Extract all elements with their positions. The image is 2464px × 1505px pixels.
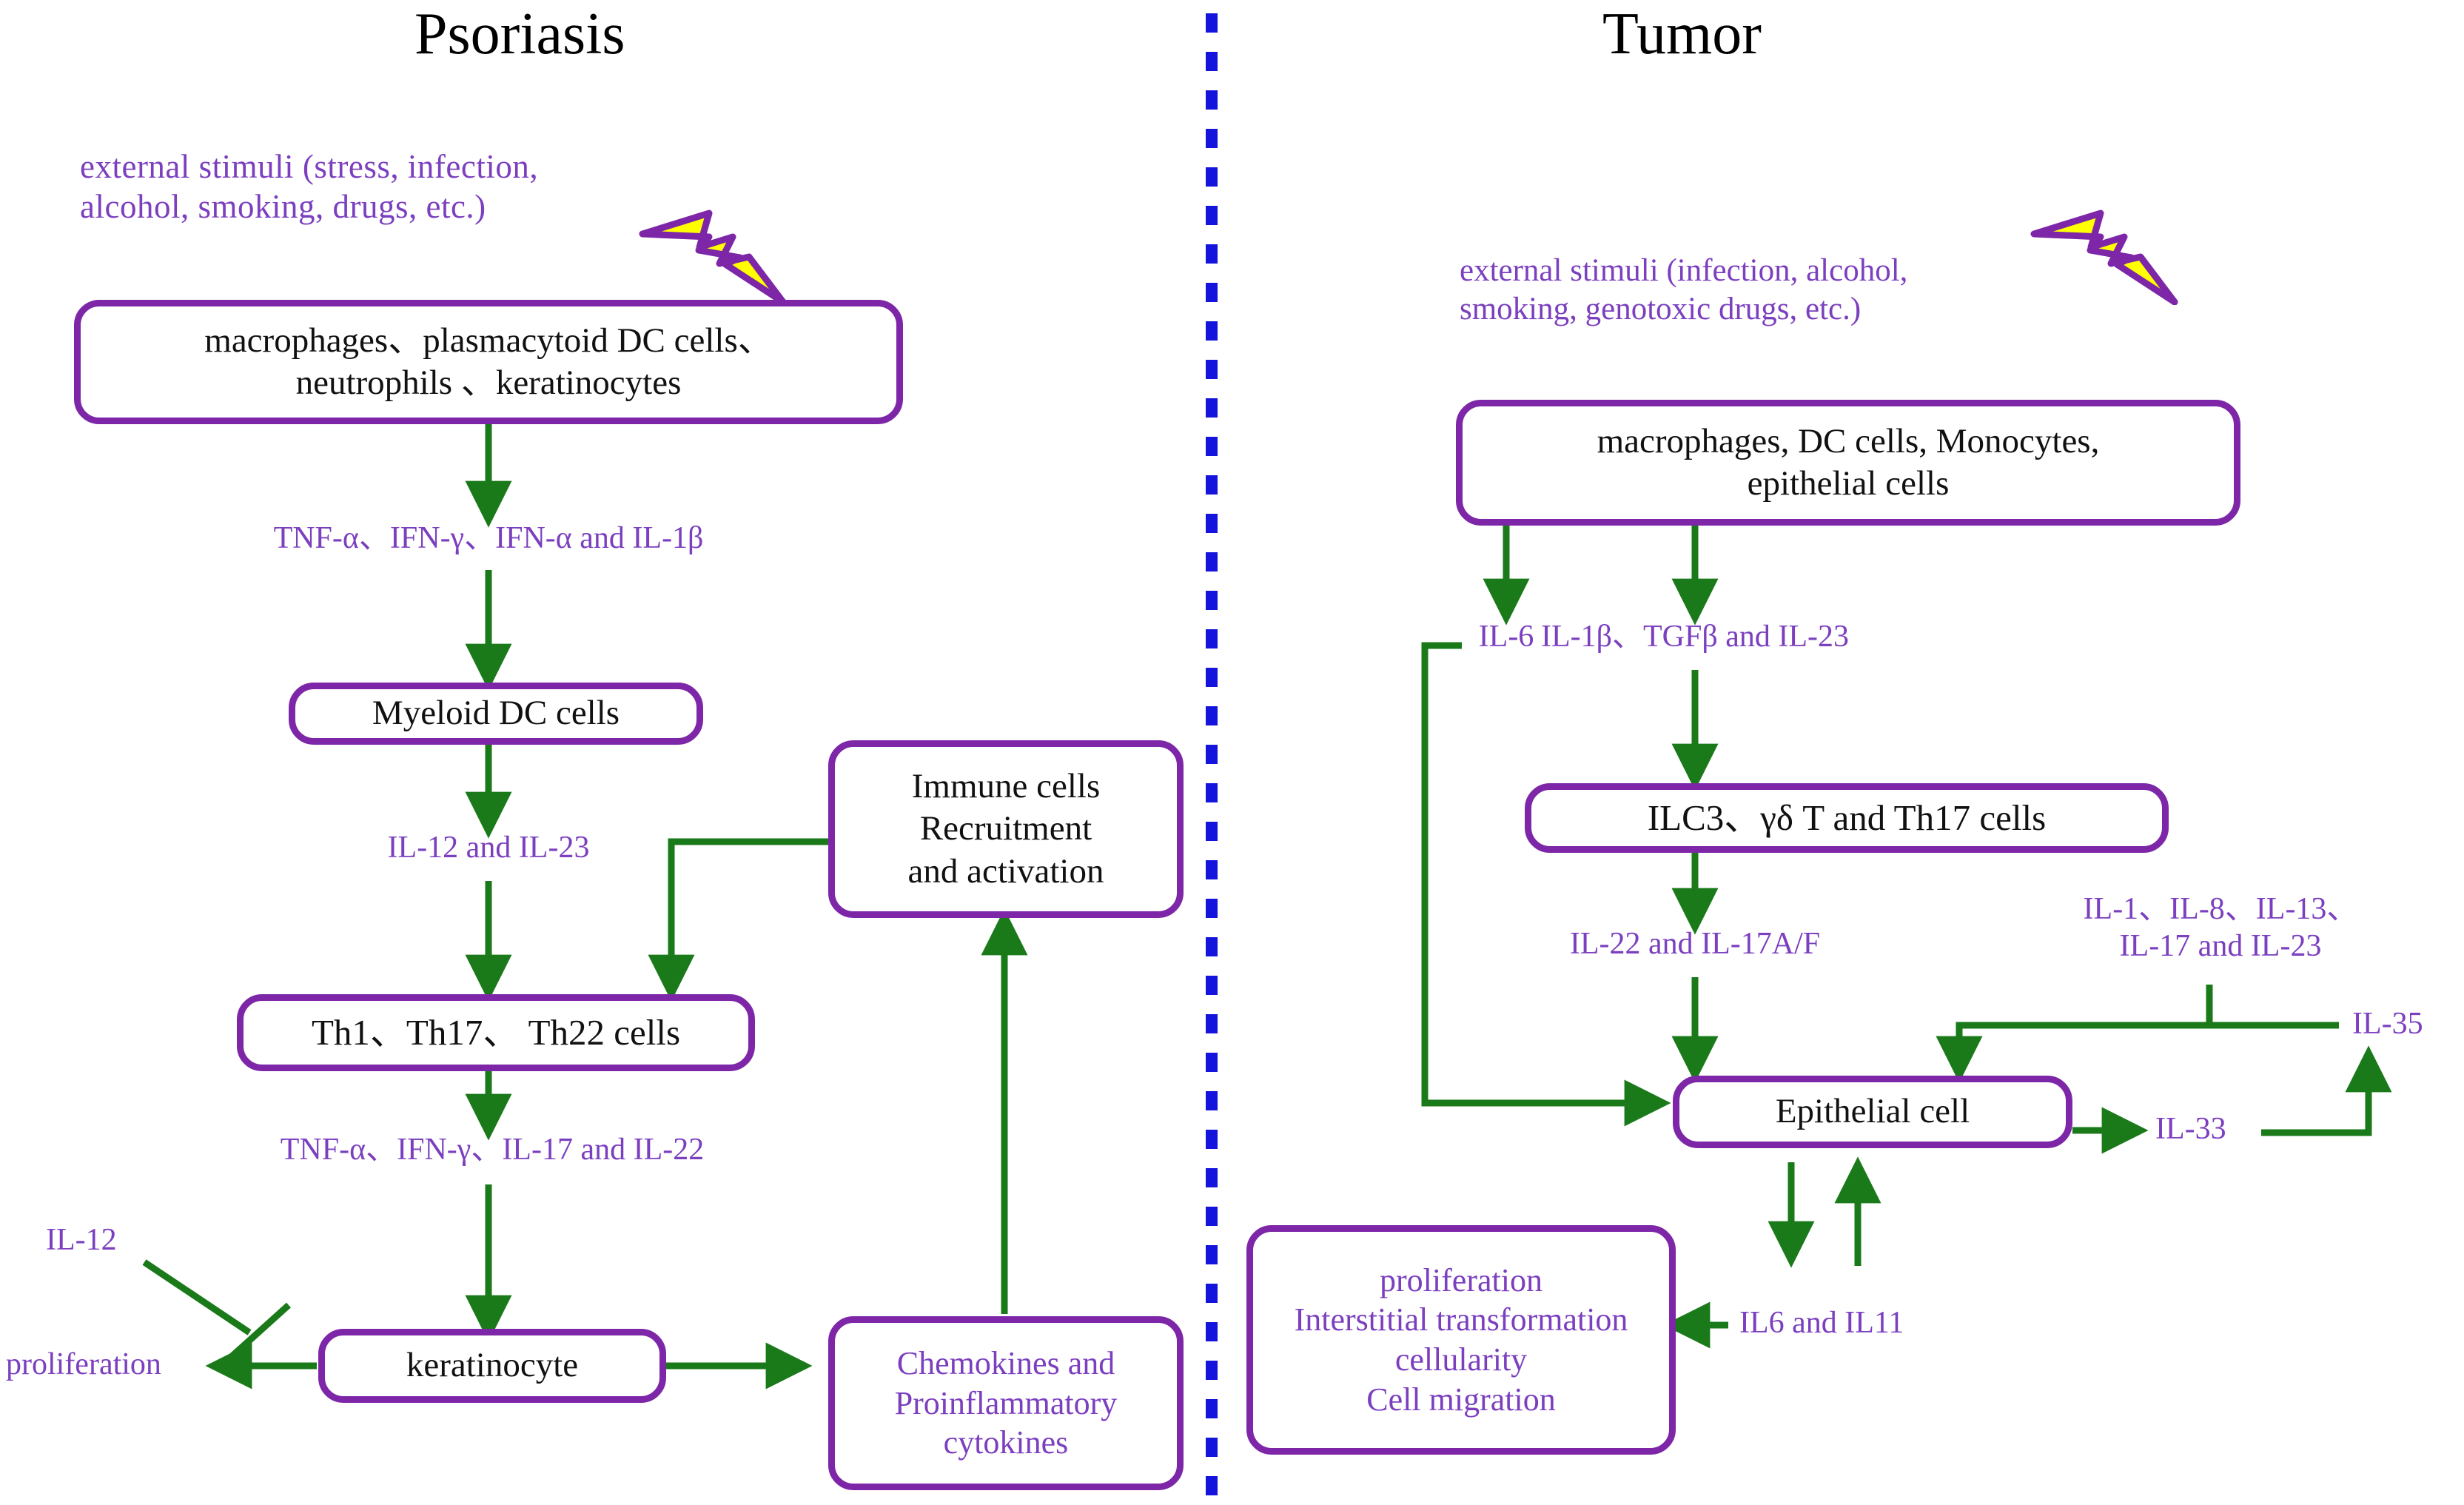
node-label: Chemokines and Proinflammatory cytokines (895, 1344, 1118, 1463)
node-label: ILC3、γδ T and Th17 cells (1648, 796, 2046, 840)
node-label: Epithelial cell (1776, 1090, 1970, 1133)
edge-label-il33: IL-33 (2155, 1110, 2226, 1147)
edge-label-il35: IL-35 (2352, 1005, 2423, 1042)
edge-label-cytokines-3: TNF-α、IFN-γ、IL-17 and IL-22 (192, 1131, 792, 1168)
panel-title-tumor: Tumor (1602, 4, 1762, 64)
node-label: proliferation Interstitial transformatio… (1295, 1261, 1628, 1420)
stimuli-label-tumor: external stimuli (infection, alcohol, sm… (1460, 252, 1907, 328)
edge-label-proliferation: proliferation (6, 1346, 161, 1383)
node-th-cells[interactable]: Th1、Th17、 Th22 cells (237, 994, 755, 1071)
node-myeloid-dc-cells[interactable]: Myeloid DC cells (289, 683, 703, 745)
node-immune-recruitment[interactable]: Immune cells Recruitment and activation (828, 740, 1184, 918)
edge-label-tumor-cytokines-1: IL-1β、TGFβ and IL-23 (1540, 618, 1850, 655)
arrow-il33-feedback-up (2261, 1055, 2369, 1133)
lightning-bolt-icon (2030, 201, 2192, 305)
lightning-bolt-icon (638, 201, 801, 305)
arrow-il6-feedback-to-epithelial (1425, 646, 1662, 1103)
node-label: Immune cells Recruitment and activation (908, 765, 1104, 893)
node-keratinocyte[interactable]: keratinocyte (318, 1329, 666, 1403)
edge-label-il6-il11: IL6 and IL11 (1739, 1304, 1904, 1341)
node-psoriasis-source-cells[interactable]: macrophages、plasmacytoid DC cells、 neutr… (74, 300, 903, 424)
node-label: Th1、Th17、 Th22 cells (312, 1010, 680, 1055)
inhibitor-bar-il12 (229, 1305, 289, 1358)
arrow-cytokines3-to-epithelial (1959, 1025, 2209, 1073)
panel-title-psoriasis: Psoriasis (414, 4, 625, 64)
edge-label-cytokines-1: TNF-α、IFN-γ、IFN-α and IL-1β (185, 520, 792, 557)
edge-label-cytokines-2: IL-12 and IL-23 (274, 829, 703, 866)
edge-label-tumor-cytokines-2: IL-22 and IL-17A/F (1525, 925, 1865, 962)
stimuli-label-psoriasis: external stimuli (stress, infection, alc… (80, 147, 538, 227)
inhibitor-line-il12 (144, 1262, 249, 1333)
node-label: keratinocyte (406, 1344, 578, 1387)
edge-label-il12-inhibitor: IL-12 (46, 1221, 117, 1258)
node-label: Myeloid DC cells (372, 692, 620, 734)
node-label: macrophages, DC cells, Monocytes, epithe… (1597, 420, 2100, 506)
node-ilc3-gd-th17[interactable]: ILC3、γδ T and Th17 cells (1525, 783, 2169, 853)
node-chemokines[interactable]: Chemokines and Proinflammatory cytokines (828, 1316, 1184, 1490)
node-epithelial-cell[interactable]: Epithelial cell (1673, 1076, 2072, 1148)
node-label: macrophages、plasmacytoid DC cells、 neutr… (204, 320, 772, 405)
diagram-canvas: Psoriasis Tumor external stimuli (stress… (0, 0, 2464, 1505)
edge-label-tumor-cytokines-3: IL-1、IL-8、IL-13、 IL-17 and IL-23 (2058, 891, 2383, 965)
node-tumor-source-cells[interactable]: macrophages, DC cells, Monocytes, epithe… (1456, 400, 2240, 526)
node-tumor-outcomes[interactable]: proliferation Interstitial transformatio… (1246, 1225, 1676, 1455)
